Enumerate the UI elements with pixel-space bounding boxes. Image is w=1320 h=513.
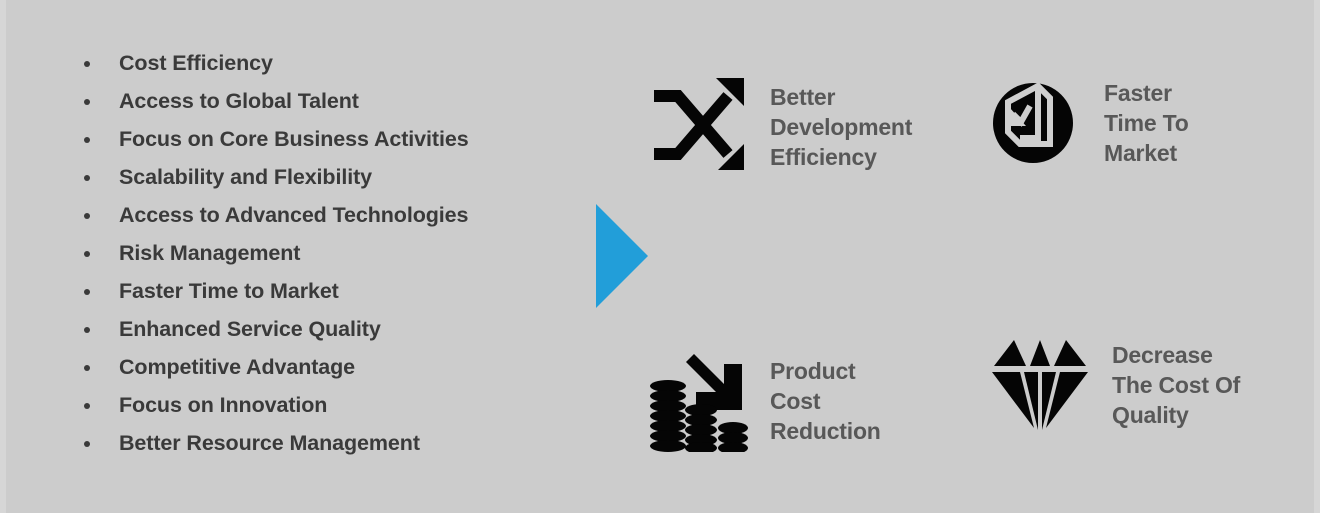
list-item: Faster Time to Market (84, 272, 604, 310)
list-item-label: Enhanced Service Quality (119, 310, 604, 348)
outcome-cost-reduction: Product Cost Reduction (646, 348, 881, 452)
outcome-label: Decrease The Cost Of Quality (1112, 340, 1240, 430)
list-item-label: Faster Time to Market (119, 272, 604, 310)
bullet-icon (84, 274, 119, 312)
infographic-slide: Cost Efficiency Access to Global Talent … (0, 0, 1320, 513)
outcome-time-to-market: Faster Time To Market (992, 78, 1189, 168)
list-item: Enhanced Service Quality (84, 310, 604, 348)
list-item: Risk Management (84, 234, 604, 272)
list-item: Access to Advanced Technologies (84, 196, 604, 234)
bullet-icon (84, 426, 119, 464)
list-item: Competitive Advantage (84, 348, 604, 386)
list-item-label: Focus on Core Business Activities (119, 120, 604, 158)
coin-stacks-down-arrow-icon (646, 348, 750, 452)
bullet-icon (84, 350, 119, 388)
list-item-label: Cost Efficiency (119, 44, 604, 82)
bullet-icon (84, 46, 119, 84)
list-item: Better Resource Management (84, 424, 604, 462)
list-item-label: Focus on Innovation (119, 386, 604, 424)
list-item: Cost Efficiency (84, 44, 604, 82)
outcome-label: Better Development Efficiency (770, 82, 912, 172)
bullet-icon (84, 160, 119, 198)
shuffle-arrows-icon (652, 78, 752, 170)
list-item-label: Competitive Advantage (119, 348, 604, 386)
outcome-dev-efficiency: Better Development Efficiency (652, 78, 912, 172)
benefits-list: Cost Efficiency Access to Global Talent … (84, 44, 604, 462)
bullet-icon (84, 84, 119, 122)
list-item-label: Access to Global Talent (119, 82, 604, 120)
outcome-label: Faster Time To Market (1104, 78, 1189, 168)
list-item-label: Access to Advanced Technologies (119, 196, 604, 234)
clock-check-icon (992, 78, 1074, 166)
bullet-icon (84, 388, 119, 426)
bullet-icon (84, 198, 119, 236)
outcome-label: Product Cost Reduction (770, 356, 881, 446)
bullet-icon (84, 312, 119, 350)
list-item-label: Scalability and Flexibility (119, 158, 604, 196)
list-item-label: Better Resource Management (119, 424, 604, 462)
bullet-icon (84, 236, 119, 274)
list-item: Focus on Core Business Activities (84, 120, 604, 158)
list-item-label: Risk Management (119, 234, 604, 272)
diamond-gem-icon (990, 336, 1090, 432)
list-item: Scalability and Flexibility (84, 158, 604, 196)
outcome-quality-cost: Decrease The Cost Of Quality (990, 336, 1240, 432)
list-item: Access to Global Talent (84, 82, 604, 120)
bullet-icon (84, 122, 119, 160)
list-item: Focus on Innovation (84, 386, 604, 424)
play-triangle-right-icon (596, 204, 648, 308)
